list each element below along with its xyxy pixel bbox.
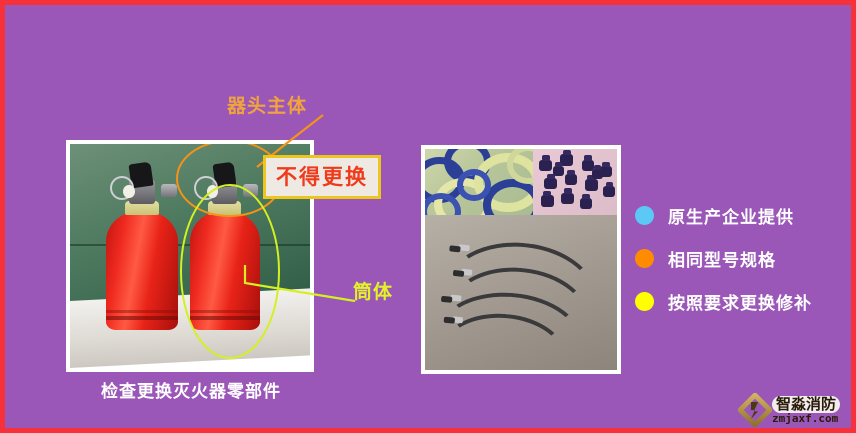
slide-canvas: 器头主体 筒体 不得更换 检查更换灭火器零部件 <box>0 0 856 433</box>
head-label: 器头主体 <box>227 91 307 118</box>
list-item: 相同型号规格 <box>635 246 850 271</box>
body-label-leader-line <box>241 261 357 315</box>
o-rings-photo-cell <box>425 149 533 215</box>
watermark: 智淼消防 zmjaxf.com <box>740 395 840 425</box>
watermark-brand-name: 智淼消防 <box>772 396 840 413</box>
bullet-dot-icon <box>635 249 654 268</box>
requirements-list: 原生产企业提供 相同型号规格 按照要求更换修补 <box>635 203 850 332</box>
list-item: 原生产企业提供 <box>635 203 850 228</box>
hoses-photo-cell <box>425 215 617 370</box>
list-item-label: 原生产企业提供 <box>668 203 794 228</box>
list-item-label: 相同型号规格 <box>668 246 776 271</box>
bullet-dot-icon <box>635 292 654 311</box>
left-photo-caption: 检查更换灭火器零部件 <box>66 377 316 402</box>
fire-extinguisher-left <box>106 211 178 330</box>
no-replacement-badge: 不得更换 <box>263 155 381 199</box>
brand-logo-icon <box>740 395 770 425</box>
nozzle-caps-photo-cell <box>533 149 617 215</box>
watermark-url: zmjaxf.com <box>772 413 840 425</box>
body-label: 筒体 <box>353 277 393 304</box>
spare-parts-photo <box>421 145 621 374</box>
bullet-dot-icon <box>635 206 654 225</box>
list-item-label: 按照要求更换修补 <box>668 289 812 314</box>
list-item: 按照要求更换修补 <box>635 289 850 314</box>
